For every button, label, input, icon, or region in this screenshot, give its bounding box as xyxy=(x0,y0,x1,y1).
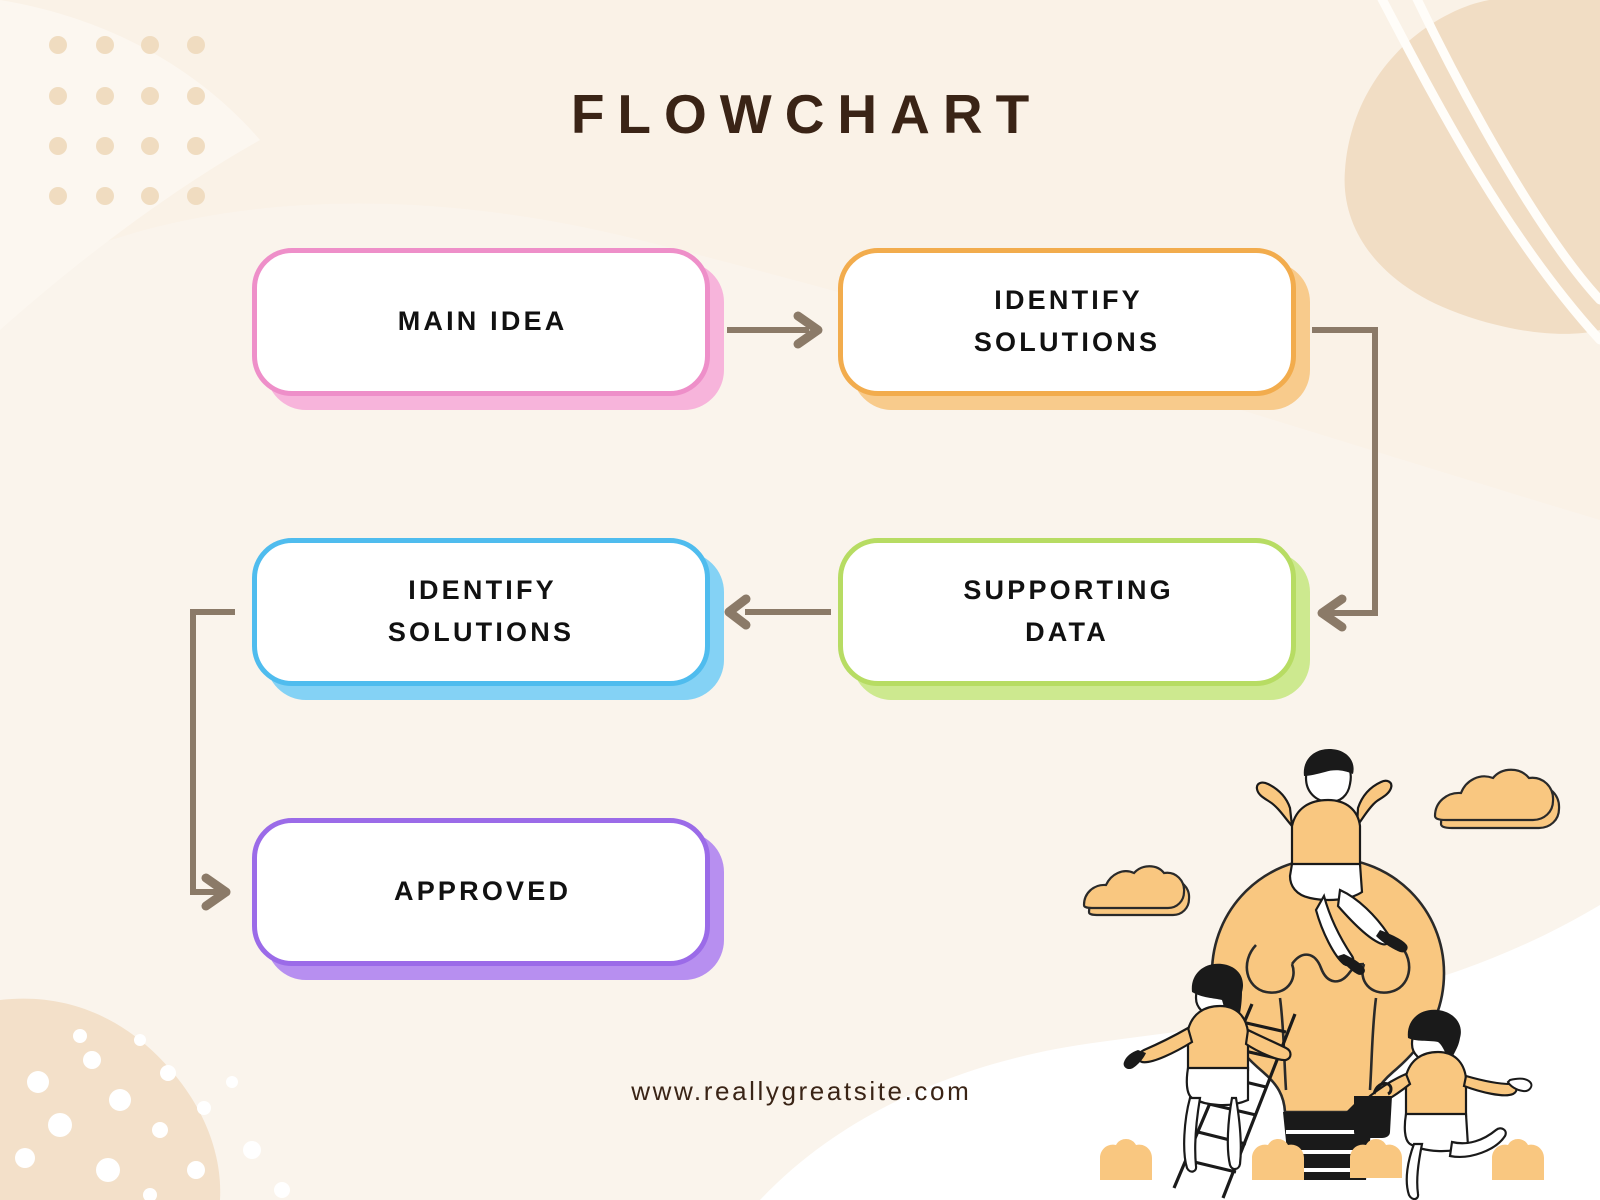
footer-website-url: www.reallygreatsite.com xyxy=(0,1076,1600,1107)
node-label-line-2: SOLUTIONS xyxy=(974,327,1160,357)
node-identify-solutions-1-label: IDENTIFY SOLUTIONS xyxy=(974,280,1160,364)
node-label-line-2: DATA xyxy=(1025,617,1109,647)
node-approved-label: APPROVED xyxy=(391,871,571,913)
edge-identify2-to-approved xyxy=(193,612,232,892)
cloud-icon xyxy=(1435,770,1559,828)
node-label-line-2: SOLUTIONS xyxy=(388,617,574,647)
node-main-idea[interactable]: MAIN IDEA xyxy=(252,248,710,396)
lightbulb-teamwork-illustration xyxy=(1040,740,1600,1200)
node-label-line-1: IDENTIFY xyxy=(994,285,1143,315)
node-supporting-data-label: SUPPORTING DATA xyxy=(960,570,1174,654)
arrowhead-left-icon xyxy=(729,599,746,625)
node-identify-solutions-2[interactable]: IDENTIFY SOLUTIONS xyxy=(252,538,710,686)
edge-identify-to-supporting xyxy=(1315,330,1375,613)
node-identify-solutions-2-label: IDENTIFY SOLUTIONS xyxy=(388,570,574,654)
node-label-line-1: IDENTIFY xyxy=(408,575,557,605)
flowchart-canvas: FLOWCHART MAIN IDEA IDENTIFY SOLUTIONS xyxy=(0,0,1600,1200)
node-main-idea-label: MAIN IDEA xyxy=(395,301,568,343)
node-supporting-data[interactable]: SUPPORTING DATA xyxy=(838,538,1296,686)
node-approved[interactable]: APPROVED xyxy=(252,818,710,966)
node-label-line-1: SUPPORTING xyxy=(963,575,1174,605)
cloud-icon xyxy=(1084,866,1189,915)
node-identify-solutions-1[interactable]: IDENTIFY SOLUTIONS xyxy=(838,248,1296,396)
